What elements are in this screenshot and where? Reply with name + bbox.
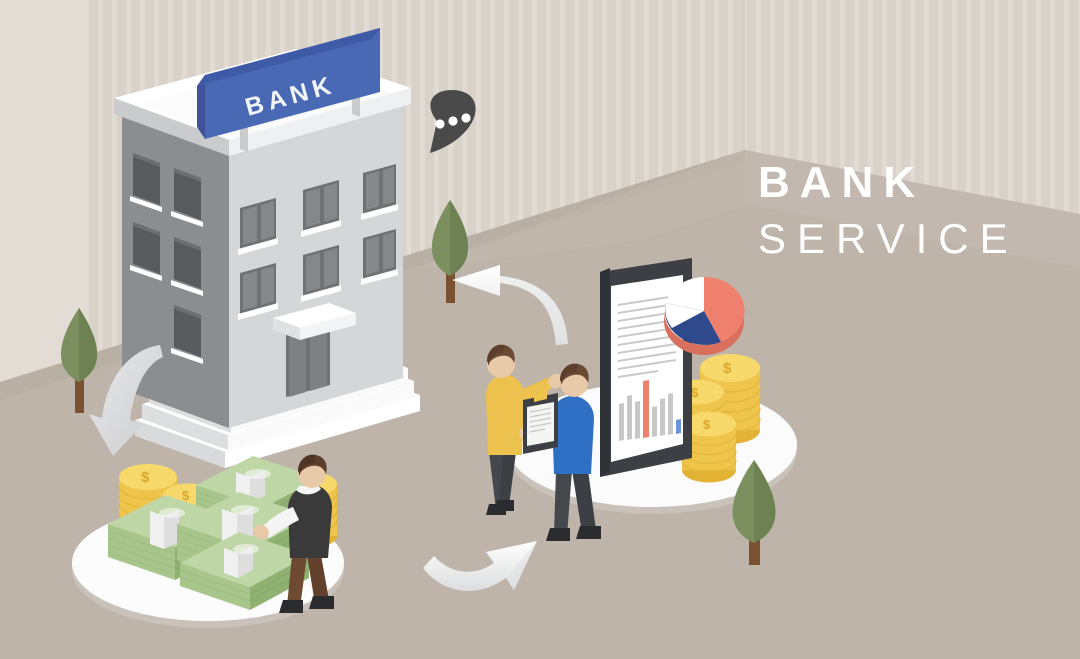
coin-symbol: $ <box>182 488 190 503</box>
bubble-dot <box>461 113 470 122</box>
title-line-service: SERVICE <box>758 215 1019 262</box>
coin-symbol: $ <box>723 360 732 377</box>
illustration-scene: BANK SERVICE <box>0 0 1080 659</box>
bubble-dot <box>448 116 457 125</box>
report-pie-chart <box>664 277 745 355</box>
coin-symbol: $ <box>703 417 711 432</box>
clipboard <box>523 390 558 454</box>
coin-symbol: $ <box>691 385 699 400</box>
title-line-bank: BANK <box>758 158 925 207</box>
coin-symbol: $ <box>141 469 150 486</box>
bank-building: BANK <box>114 28 420 468</box>
bubble-dot <box>435 119 444 128</box>
